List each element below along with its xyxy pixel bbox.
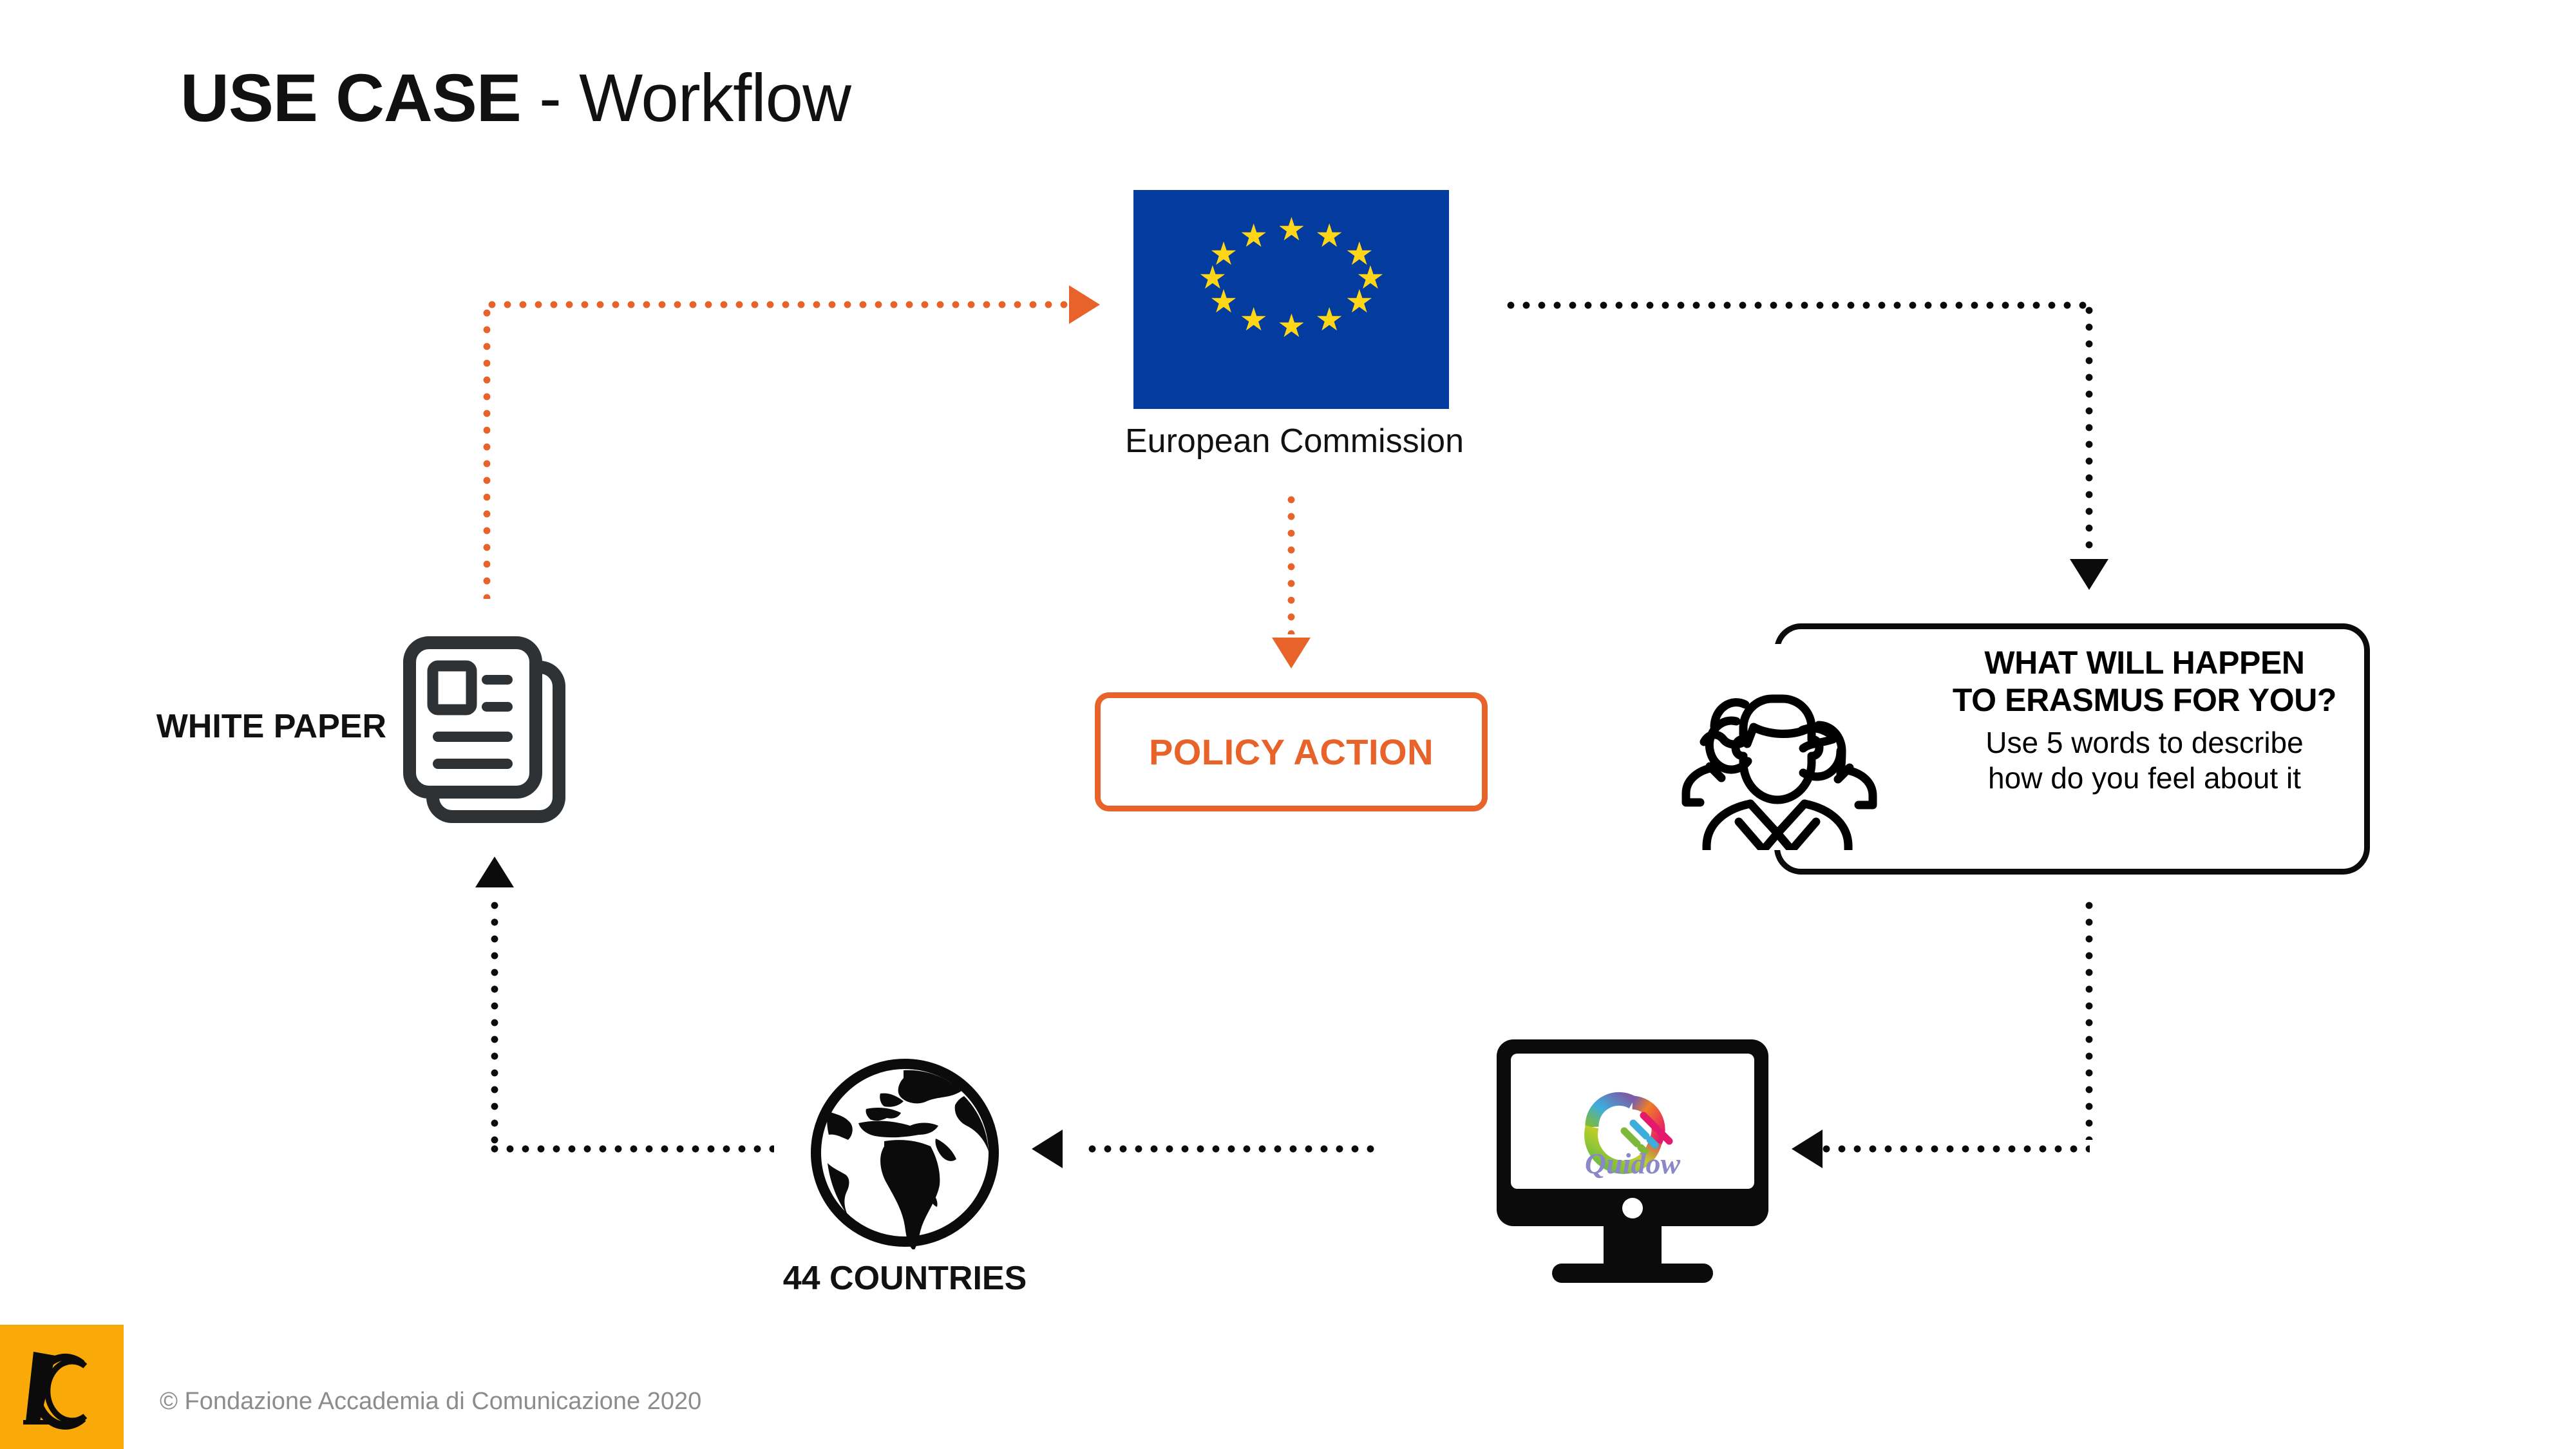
arrowhead-to-survey xyxy=(2070,559,2108,590)
survey-question-line1: WHAT WILL HAPPEN xyxy=(1932,644,2357,681)
arrowhead-to-white-paper xyxy=(475,857,514,887)
european-commission-label: European Commission xyxy=(1088,422,1501,460)
connector-survey-to-platform-vertical xyxy=(2085,902,2093,1140)
brand-logo xyxy=(0,1325,124,1449)
arrowhead-to-platform xyxy=(1792,1130,1823,1168)
connector-white-paper-to-eu-horizontal xyxy=(488,301,1068,308)
desktop-monitor-icon: Quidow xyxy=(1494,1037,1771,1288)
eu-flag-stars: ★ ★ ★ ★ ★ ★ ★ ★ ★ ★ ★ ★ xyxy=(1133,190,1449,409)
eu-star: ★ xyxy=(1277,312,1305,340)
policy-action-label: POLICY ACTION xyxy=(1149,731,1434,773)
slide-canvas: USE CASE - Workflow ★ ★ ★ ★ ★ ★ ★ ★ ★ ★ … xyxy=(0,0,2576,1449)
arrowhead-to-policy-action xyxy=(1272,638,1311,668)
page-title-bold: USE CASE xyxy=(180,61,521,136)
eu-star: ★ xyxy=(1277,215,1305,243)
survey-question-line2: TO ERASMUS FOR YOU? xyxy=(1932,681,2357,719)
document-stack-icon xyxy=(386,631,592,824)
quidow-wordmark: Quidow xyxy=(1585,1147,1681,1180)
people-group-icon xyxy=(1674,644,1880,850)
eu-star: ★ xyxy=(1239,305,1267,334)
globe-icon xyxy=(808,1056,1001,1249)
connector-countries-to-white-paper-horizontal xyxy=(491,1145,774,1153)
survey-text: WHAT WILL HAPPEN TO ERASMUS FOR YOU? Use… xyxy=(1932,644,2357,796)
connector-eu-to-policy-vertical xyxy=(1287,496,1295,634)
connector-eu-to-survey-vertical xyxy=(2085,307,2093,558)
page-title-rest: - Workflow xyxy=(521,61,851,136)
european-union-flag: ★ ★ ★ ★ ★ ★ ★ ★ ★ ★ ★ ★ xyxy=(1133,190,1449,409)
copyright-text: © Fondazione Accademia di Comunicazione … xyxy=(160,1388,701,1416)
white-paper-label: WHITE PAPER xyxy=(116,707,386,746)
connector-countries-to-white-paper-vertical xyxy=(491,902,498,1150)
page-title: USE CASE - Workflow xyxy=(180,64,851,132)
eu-star: ★ xyxy=(1239,222,1267,250)
arrowhead-to-countries xyxy=(1032,1130,1063,1168)
connector-eu-to-survey-horizontal xyxy=(1507,301,2093,309)
eu-star: ★ xyxy=(1345,287,1373,316)
eu-star: ★ xyxy=(1209,240,1238,268)
policy-action-box[interactable]: POLICY ACTION xyxy=(1095,692,1488,811)
connector-survey-to-platform-horizontal xyxy=(1823,1145,2090,1153)
connector-white-paper-to-eu-vertical xyxy=(483,309,491,599)
eu-star: ★ xyxy=(1315,305,1343,334)
countries-label: 44 COUNTRIES xyxy=(712,1259,1098,1298)
survey-instruction-line1: Use 5 words to describe xyxy=(1932,725,2357,761)
arrowhead-to-eu xyxy=(1069,285,1100,324)
survey-instruction-line2: how do you feel about it xyxy=(1932,761,2357,796)
eu-star: ★ xyxy=(1315,222,1343,250)
connector-platform-to-countries xyxy=(1088,1145,1381,1153)
